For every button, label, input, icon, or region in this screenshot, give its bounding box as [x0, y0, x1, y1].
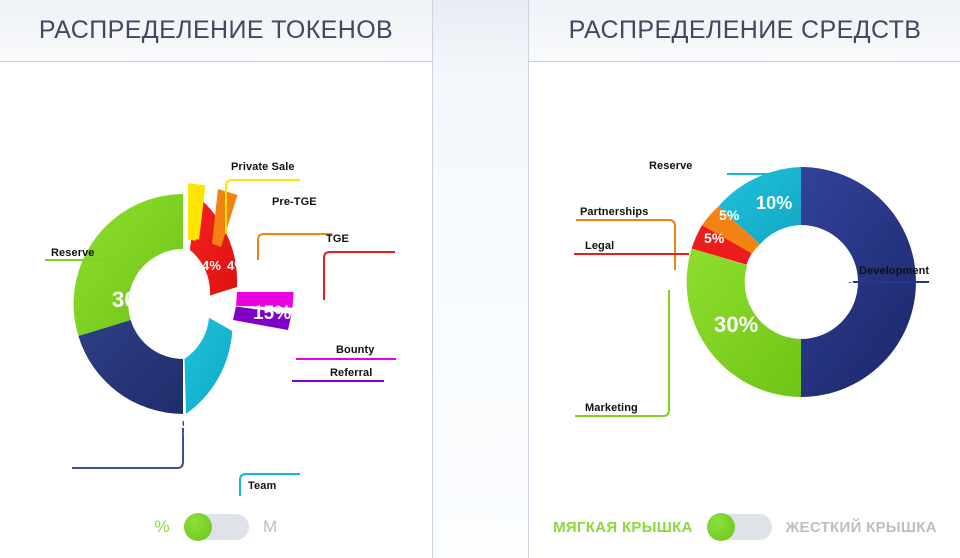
token-distribution-header: РАСПРЕДЕЛЕНИЕ ТОКЕНОВ [0, 0, 432, 62]
callout-reserve: Reserve [51, 247, 95, 259]
value-label-reserve-funds: 10% [756, 193, 792, 214]
value-label-private-sale: 4% [202, 258, 221, 273]
token-distribution-panel: РАСПРЕДЕЛЕНИЕ ТОКЕНОВ [0, 0, 433, 558]
funds-distribution-body: 50% 30% 5% 5% 10% Development Marketing … [529, 62, 960, 558]
callout-reserve-funds: Reserve [649, 160, 693, 172]
token-donut-svg [0, 62, 432, 496]
value-label-reserve: 30% [112, 287, 156, 313]
token-unit-toggle-row: % M [0, 496, 432, 558]
value-label-partnerships: 5% [719, 207, 739, 223]
value-label-pre-tge: 4% [227, 258, 246, 273]
value-label-team: 10% [261, 397, 295, 417]
callout-partnerships: Partnerships [580, 206, 648, 218]
funds-distribution-header: РАСПРЕДЕЛЕНИЕ СРЕДСТВ [529, 0, 960, 62]
switch-knob[interactable] [184, 513, 212, 541]
callout-tge: TGE [326, 233, 349, 245]
funds-donut-svg [529, 62, 960, 496]
value-label-legal: 5% [704, 230, 724, 246]
token-distribution-body: 30% 4% 4% 15% 1% 1% 10% 35% Reserve Priv… [0, 62, 432, 558]
switch-knob-funds[interactable] [707, 513, 735, 541]
value-label-bounty: 1% [281, 344, 297, 356]
toggle-left-label-percent[interactable]: % [155, 517, 170, 537]
callout-pre-tge: Pre-TGE [272, 196, 317, 208]
panel-gutter [432, 0, 528, 558]
funds-donut-chart: 50% 30% 5% 5% 10% Development Marketing … [529, 62, 960, 496]
toggle-right-label-millions[interactable]: M [263, 517, 277, 537]
value-label-referral: 1% [277, 363, 293, 375]
funds-cap-switch[interactable] [707, 514, 772, 540]
slice-growth-pool[interactable] [78, 320, 183, 414]
page-title-secondary: РАСПРЕДЕЛЕНИЕ СРЕДСТВ [569, 16, 922, 45]
value-label-tge: 15% [253, 303, 291, 325]
value-label-growth-pool: 35% [155, 414, 199, 440]
callout-marketing: Marketing [585, 402, 638, 414]
slice-team[interactable] [185, 318, 233, 414]
value-label-development: 50% [810, 270, 854, 296]
callout-bounty: Bounty [336, 344, 374, 356]
callout-private-sale: Private Sale [231, 161, 295, 173]
callout-referral: Referral [330, 367, 372, 379]
page-title: РАСПРЕДЕЛЕНИЕ ТОКЕНОВ [39, 16, 393, 45]
value-label-marketing: 30% [714, 312, 758, 338]
slice-reserve[interactable] [74, 194, 183, 336]
callout-team: Team [248, 480, 276, 492]
funds-cap-toggle-row: МЯГКАЯ КРЫШКА ЖЕСТКИЙ КРЫШКА [529, 496, 960, 558]
callout-legal: Legal [585, 240, 614, 252]
tokenomics-screen: РАСПРЕДЕЛЕНИЕ ТОКЕНОВ [0, 0, 960, 558]
token-donut-chart: 30% 4% 4% 15% 1% 1% 10% 35% Reserve Priv… [0, 62, 432, 496]
toggle-left-label-soft-cap[interactable]: МЯГКАЯ КРЫШКА [553, 519, 693, 536]
callout-development: Development [859, 265, 929, 277]
token-unit-switch[interactable] [184, 514, 249, 540]
toggle-right-label-hard-cap[interactable]: ЖЕСТКИЙ КРЫШКА [786, 519, 937, 536]
funds-distribution-panel: РАСПРЕДЕЛЕНИЕ СРЕДСТВ [528, 0, 960, 558]
